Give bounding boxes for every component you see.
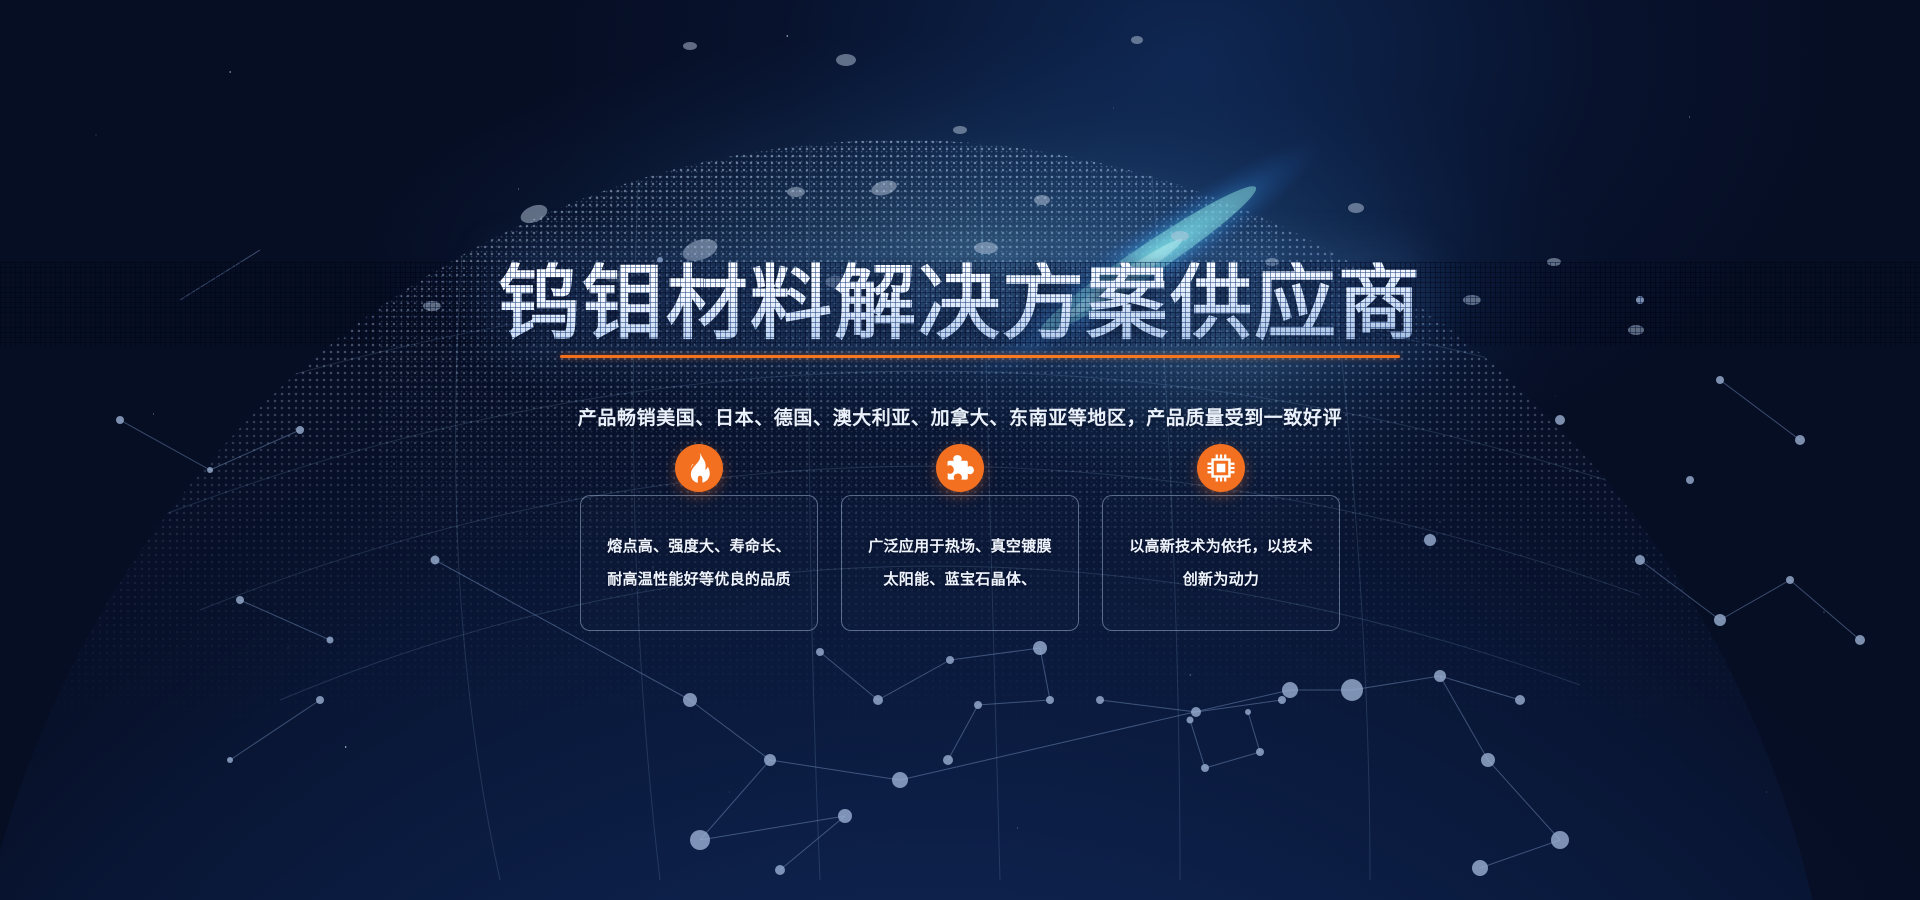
subtitle: 产品畅销美国、日本、德国、澳大利亚、加拿大、东南亚等地区，产品质量受到一致好评 <box>0 403 1920 430</box>
headline-container: 钨钼材料解决方案供应商 <box>0 262 1920 346</box>
title-underline-rule <box>560 355 1400 358</box>
feature-card-1-line1: 熔点高、强度大、寿命长、 <box>607 530 791 563</box>
flame-icon <box>675 444 723 492</box>
page-title: 钨钼材料解决方案供应商 <box>498 262 1422 346</box>
hero-banner: 钨钼材料解决方案供应商 产品畅销美国、日本、德国、澳大利亚、加拿大、东南亚等地区… <box>0 0 1920 900</box>
feature-card-3-text: 以高新技术为依托，以技术 创新为动力 <box>1129 530 1313 596</box>
feature-card-list: 熔点高、强度大、寿命长、 耐高温性能好等优良的品质 广泛应用于热场、真空镀膜 太… <box>580 495 1340 635</box>
feature-card-3-line2: 创新为动力 <box>1129 563 1313 596</box>
feature-card-1[interactable]: 熔点高、强度大、寿命长、 耐高温性能好等优良的品质 <box>580 495 818 631</box>
feature-card-2-text: 广泛应用于热场、真空镀膜 太阳能、蓝宝石晶体、 <box>868 530 1052 596</box>
feature-card-1-line2: 耐高温性能好等优良的品质 <box>607 563 791 596</box>
feature-card-3-line1: 以高新技术为依托，以技术 <box>1129 530 1313 563</box>
feature-card-2[interactable]: 广泛应用于热场、真空镀膜 太阳能、蓝宝石晶体、 <box>841 495 1079 631</box>
puzzle-piece-icon <box>936 444 984 492</box>
feature-card-3[interactable]: 以高新技术为依托，以技术 创新为动力 <box>1102 495 1340 631</box>
feature-card-2-line1: 广泛应用于热场、真空镀膜 <box>868 530 1052 563</box>
chip-icon <box>1197 444 1245 492</box>
feature-card-1-text: 熔点高、强度大、寿命长、 耐高温性能好等优良的品质 <box>607 530 791 596</box>
feature-card-2-line2: 太阳能、蓝宝石晶体、 <box>868 563 1052 596</box>
